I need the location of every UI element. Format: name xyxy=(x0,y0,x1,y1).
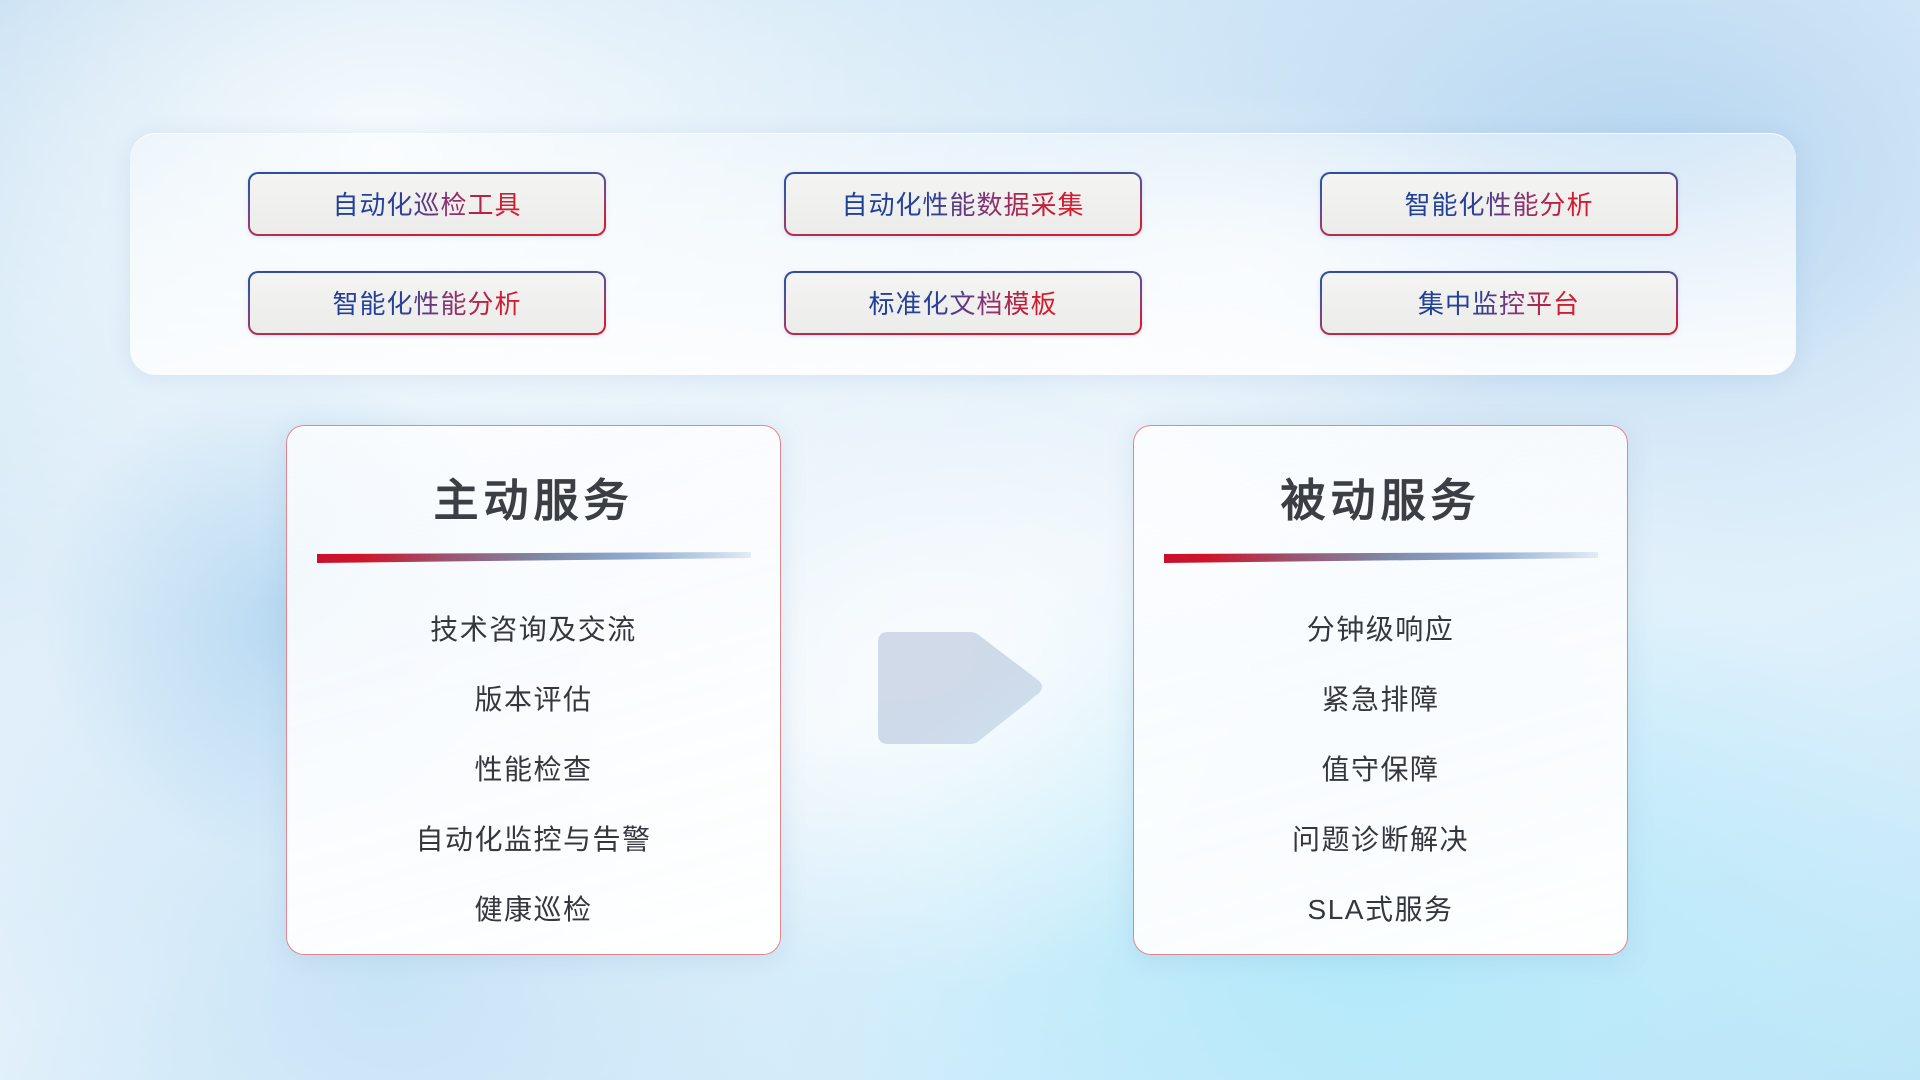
tag-label: 自动化巡检工具 xyxy=(332,185,521,222)
tag-label: 智能化性能分析 xyxy=(332,284,521,321)
service-item[interactable]: 分钟级响应 xyxy=(1307,595,1455,665)
tag-surface: 自动化性能数据采集 xyxy=(786,174,1140,234)
title-divider xyxy=(317,551,751,565)
capability-panel: 自动化巡检工具 自动化性能数据采集 智能化性能分析 智能化性能分析 标准化文档模… xyxy=(130,133,1796,375)
title-divider xyxy=(1164,551,1598,565)
tag-label: 自动化性能数据采集 xyxy=(841,185,1084,222)
service-item[interactable]: 问题诊断解决 xyxy=(1292,805,1469,875)
capability-tag-grid: 自动化巡检工具 自动化性能数据采集 智能化性能分析 智能化性能分析 标准化文档模… xyxy=(130,133,1796,375)
tag-label: 智能化性能分析 xyxy=(1404,185,1593,222)
tag-surface: 集中监控平台 xyxy=(1322,273,1676,333)
service-item[interactable]: 自动化监控与告警 xyxy=(415,805,651,875)
capability-tag-auto-inspection-tool[interactable]: 自动化巡检工具 xyxy=(248,172,606,236)
capability-tag-auto-perf-data-collection[interactable]: 自动化性能数据采集 xyxy=(784,172,1142,236)
tag-surface: 自动化巡检工具 xyxy=(250,174,604,234)
capability-tag-central-monitor-platform[interactable]: 集中监控平台 xyxy=(1320,271,1678,335)
service-item-list: 技术咨询及交流 版本评估 性能检查 自动化监控与告警 健康巡检 xyxy=(287,595,780,945)
service-card-passive: 被动服务 分钟级响应 紧急排障 值守保障 问题诊断解决 SLA式服务 xyxy=(1133,425,1628,955)
service-item[interactable]: 版本评估 xyxy=(474,665,592,735)
tag-surface: 智能化性能分析 xyxy=(250,273,604,333)
tag-label: 集中监控平台 xyxy=(1418,284,1580,321)
service-item[interactable]: 值守保障 xyxy=(1321,735,1439,805)
capability-tag-smart-perf-analysis-top[interactable]: 智能化性能分析 xyxy=(1320,172,1678,236)
service-item[interactable]: SLA式服务 xyxy=(1308,875,1454,945)
service-item[interactable]: 性能检查 xyxy=(474,735,592,805)
service-item-list: 分钟级响应 紧急排障 值守保障 问题诊断解决 SLA式服务 xyxy=(1134,595,1627,945)
service-card-active: 主动服务 技术咨询及交流 版本评估 性能检查 自动化监控与告警 健康巡检 xyxy=(286,425,781,955)
capability-tag-smart-perf-analysis-bottom[interactable]: 智能化性能分析 xyxy=(248,271,606,335)
arrow-right-icon xyxy=(866,618,1056,758)
service-item[interactable]: 紧急排障 xyxy=(1321,665,1439,735)
capability-tag-standard-doc-template[interactable]: 标准化文档模板 xyxy=(784,271,1142,335)
tag-label: 标准化文档模板 xyxy=(868,284,1057,321)
service-item[interactable]: 健康巡检 xyxy=(474,875,592,945)
service-card-title: 被动服务 xyxy=(1280,464,1480,529)
tag-surface: 智能化性能分析 xyxy=(1322,174,1676,234)
service-item[interactable]: 技术咨询及交流 xyxy=(430,595,637,665)
service-card-title: 主动服务 xyxy=(433,464,633,529)
tag-surface: 标准化文档模板 xyxy=(786,273,1140,333)
